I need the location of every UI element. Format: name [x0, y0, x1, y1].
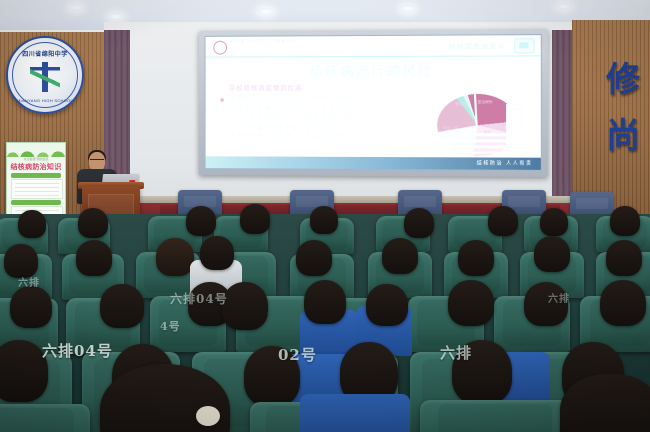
poster-section-header [11, 200, 61, 205]
audience-head [76, 240, 112, 276]
pie-slice-label: 新发病例 [455, 102, 470, 107]
audience-head [100, 284, 144, 328]
audience-head [600, 280, 646, 326]
audience-head [458, 240, 494, 276]
downlight [258, 8, 274, 15]
slide-pill-label: 学校结核病疫情风险高 [219, 80, 312, 94]
audience-head [448, 280, 494, 326]
slide-title: 结核病流行的风险 [206, 59, 541, 80]
seat-label: 六排04号 [170, 290, 228, 307]
seat-label: 4号 [160, 318, 181, 334]
audience-head [78, 208, 108, 238]
downlight [68, 4, 84, 11]
seat-label: 02号 [278, 344, 317, 365]
audience-head [366, 284, 408, 326]
downlight [108, 13, 124, 20]
audience-head [10, 286, 52, 328]
hospital-logo-icon [213, 41, 227, 55]
downlight [400, 5, 416, 12]
slide-header-right: 结核病防治知识 [449, 41, 506, 50]
audience-head [222, 282, 268, 330]
emblem-bottom-text: MIANYANG HIGH SCHOOL [8, 98, 82, 103]
audience-head [304, 280, 346, 324]
seat-label: 六排 [548, 290, 570, 305]
audience-head [18, 210, 46, 238]
projection-screen: 绵阳市第三人民医院 四川省精神卫生中心 结核病防治知识 结核病流行的风险 学校结… [205, 34, 542, 171]
auditorium-seat [0, 404, 90, 432]
slide-header-badge-icon [514, 38, 534, 53]
audience-head [382, 238, 418, 274]
poster-section-body [11, 179, 63, 199]
school-emblem: 四川省绵阳中学 MIANYANG HIGH SCHOOL [6, 36, 84, 114]
bullet-icon [220, 98, 224, 102]
seat-label: 六排 [440, 342, 472, 363]
audience-head-foreground [560, 374, 650, 432]
seat-label: 六排04号 [42, 340, 113, 361]
audience-head [310, 206, 338, 234]
slide-footer: 结核防治 人人有责 [206, 156, 541, 170]
audience-head [296, 240, 332, 276]
audience-head [488, 206, 518, 236]
seat-label: 六排 [18, 274, 40, 289]
slide-body-text: 据相关资料统计，2008-2015年15个确诊的肺结核患者中学生29例，教职工9… [229, 94, 354, 151]
projection-screen-frame: 绵阳市第三人民医院 四川省精神卫生中心 结核病防治知识 结核病流行的风险 学校结… [199, 29, 548, 177]
audience-head [156, 238, 194, 276]
pie-slice-label: 复治病例 [478, 100, 493, 105]
downlight [556, 3, 572, 10]
audience-head [534, 236, 570, 272]
hair-scrunchie [196, 406, 220, 426]
slide-footer-note: 结核防治 人人有责 [477, 159, 533, 166]
audience-uniform [300, 394, 410, 432]
auditorium-seat [420, 400, 570, 432]
audience-head [186, 206, 216, 236]
poster-leaf-decor [7, 143, 65, 157]
auditorium-photo: 修 尚 四川省绵阳中学 MIANYANG HIGH SCHOOL 关注健康 预防… [0, 0, 650, 432]
presentation-slide: 绵阳市第三人民医院 四川省精神卫生中心 结核病防治知识 结核病流行的风险 学校结… [206, 35, 541, 170]
wall-character-2: 尚 [606, 108, 640, 157]
poster-subtitle: 关注健康 预防结核 [7, 157, 65, 161]
audience-head [404, 208, 434, 238]
chart-caption-lines [433, 133, 526, 153]
audience-head [540, 208, 568, 236]
audience-head [4, 244, 38, 278]
wall-character-1: 修 [606, 52, 640, 101]
emblem-mark-icon [30, 62, 60, 92]
poster-section-header [11, 173, 61, 178]
audience-head [606, 240, 642, 276]
audience-head [610, 206, 640, 236]
audience-head [240, 204, 270, 234]
poster-title: 结核病防治知识 [7, 162, 65, 172]
seating-area: 六排04号 六排04号 4号 02号 六排 六排 六排 [0, 214, 650, 432]
audience-head [0, 340, 48, 402]
glasses-icon [90, 159, 104, 163]
emblem-top-text: 四川省绵阳中学 [8, 49, 82, 58]
slide-header: 绵阳市第三人民医院 四川省精神卫生中心 结核病防治知识 [206, 35, 541, 57]
audience-head [200, 236, 234, 270]
pie-slice-label: 社会人群 [443, 126, 458, 131]
slide-header-org: 绵阳市第三人民医院 四川省精神卫生中心 [229, 39, 298, 50]
